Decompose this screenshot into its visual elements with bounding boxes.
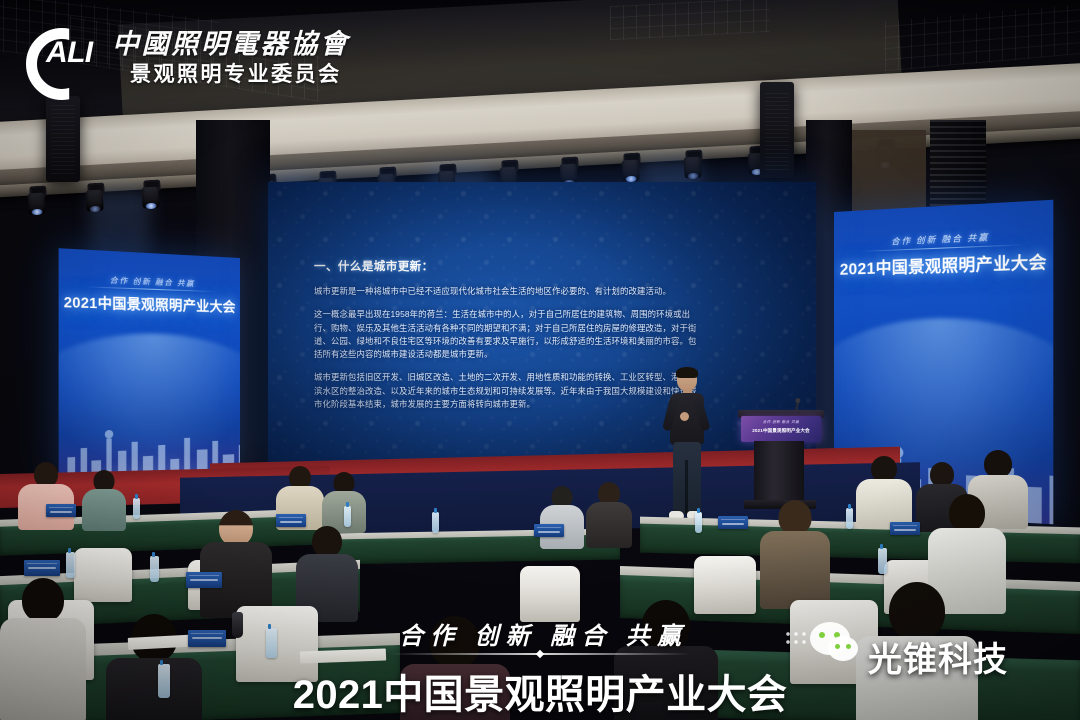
wechat-dot-pattern [784, 630, 808, 648]
person-body [106, 658, 202, 720]
presenter-hair [676, 367, 698, 378]
water-bottle [133, 498, 140, 519]
wechat-eye [846, 644, 851, 649]
table-name-card [890, 522, 920, 535]
audience-person [856, 456, 912, 526]
person-head [219, 510, 253, 546]
audience-person [200, 510, 272, 614]
stage-light-fixture [27, 186, 46, 217]
water-bottle [158, 664, 170, 698]
person-body [400, 664, 510, 720]
water-bottle [344, 506, 351, 527]
water-bottle [266, 628, 277, 658]
table-tumbler [232, 612, 243, 638]
stage-light-fixture [683, 150, 702, 181]
person-body [0, 618, 86, 720]
audience-person [18, 462, 74, 528]
audience-person [760, 500, 830, 606]
audience-person [586, 482, 632, 544]
table-name-card [534, 524, 564, 537]
water-bottle [846, 508, 853, 529]
presenter-hand [680, 412, 689, 421]
side-screen-right-title: 2021中国景观照明产业大会 [834, 247, 1053, 280]
person-body [82, 489, 126, 531]
stage-light-fixture [621, 153, 640, 184]
pa-speaker [760, 82, 794, 178]
wechat-bubble-small [828, 636, 858, 661]
audience-person [0, 578, 86, 720]
table-name-card [718, 516, 748, 529]
stage-light-fixture [141, 180, 160, 211]
person-head [642, 600, 690, 650]
table-name-card [186, 572, 222, 588]
audience-person [400, 616, 510, 720]
side-screen-left: 合作 创新 融合 共赢 2021中国景观照明产业大会 [59, 248, 240, 482]
person-body [614, 646, 718, 720]
person-head [984, 450, 1012, 478]
wechat-icon [800, 620, 864, 672]
person-head [779, 500, 812, 535]
water-bottle [66, 552, 75, 578]
wechat-eye [835, 644, 840, 649]
person-head [312, 526, 342, 557]
table-name-card [188, 630, 226, 647]
water-bottle [432, 512, 439, 533]
audience-person [82, 470, 126, 528]
podium-body [754, 441, 804, 503]
water-bottle [695, 512, 702, 533]
person-head [430, 616, 480, 668]
audience-chair [236, 606, 318, 682]
person-head [949, 494, 985, 532]
person-body [586, 502, 632, 548]
presenter [664, 368, 710, 528]
person-head [22, 578, 64, 622]
audience-person [296, 526, 358, 618]
water-bottle [150, 556, 159, 582]
podium-sign-title: 2021中国景观照明产业大会 [741, 428, 821, 434]
person-body [760, 531, 830, 609]
main-presentation-screen: 一、什么是城市更新： 城市更新是一种将城市中已经不适应现代化城市社会生活的地区作… [268, 182, 816, 478]
pa-speaker [46, 96, 80, 182]
watermark-brand-name: 光锥科技 [868, 632, 1008, 681]
conference-photo: 合作 创新 融合 共赢 2021中国景观照明产业大会 合作 创新 融合 共赢 2… [0, 0, 1080, 720]
podium: 合作 创新 融合 共赢 2021中国景观照明产业大会 [738, 410, 824, 514]
stage-light-fixture [85, 183, 104, 214]
water-bottle [878, 548, 887, 574]
podium-sign: 合作 创新 融合 共赢 2021中国景观照明产业大会 [741, 416, 821, 442]
audience-person [614, 600, 718, 720]
wechat-eye [819, 632, 825, 638]
side-screen-left-title: 2021中国景观照明产业大会 [59, 290, 240, 316]
podium-sign-slogan: 合作 创新 融合 共赢 [741, 420, 821, 425]
table-name-card [24, 560, 60, 576]
screen-vignette [268, 182, 816, 478]
presenter-legs [673, 442, 701, 514]
audience-chair [520, 566, 580, 622]
table-name-card [46, 504, 76, 517]
